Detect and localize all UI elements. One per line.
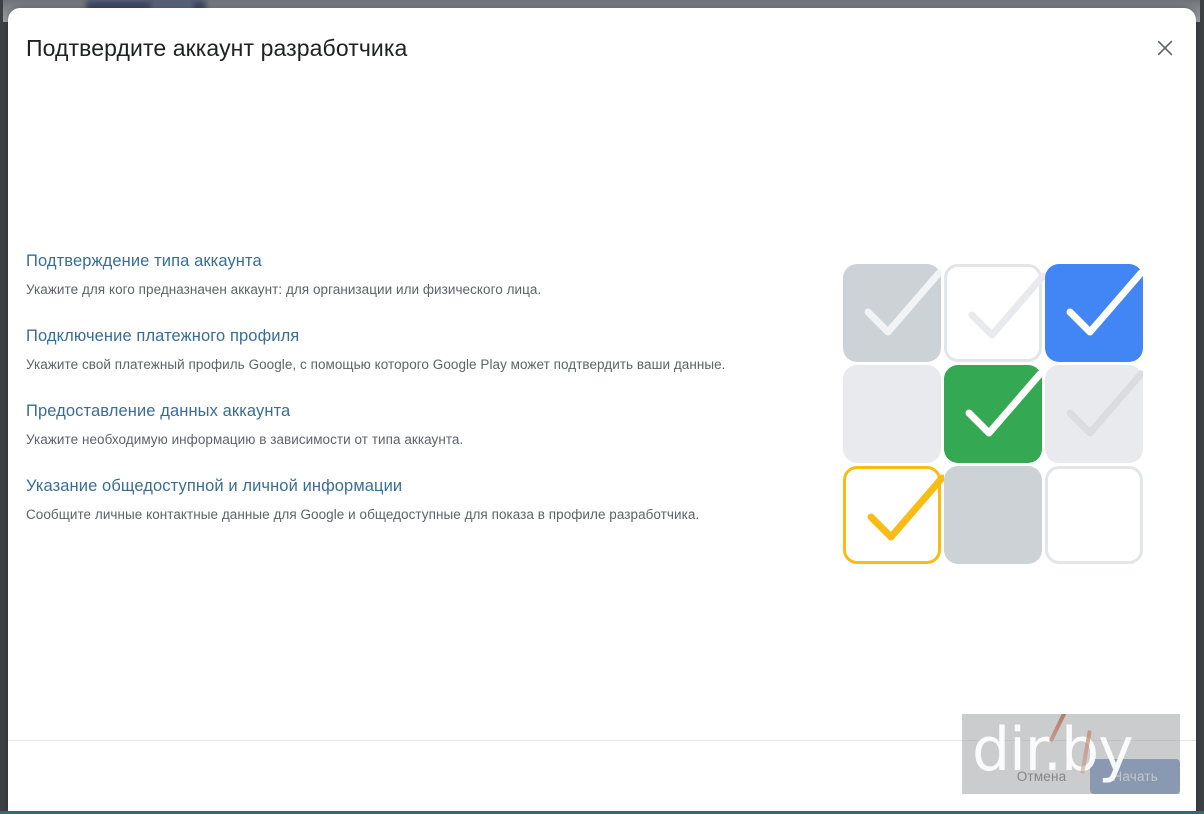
window-right-edge	[1200, 0, 1204, 814]
step-title-account-type[interactable]: Подтверждение типа аккаунта	[26, 250, 816, 272]
step-desc-account-data: Укажите необходимую информацию в зависим…	[26, 431, 816, 449]
check-icon	[843, 264, 941, 362]
step-title-payment-profile[interactable]: Подключение платежного профиля	[26, 325, 816, 347]
checkbox-cell-2	[944, 264, 1042, 362]
footer-actions: Отмена Начать	[1001, 759, 1180, 794]
close-button[interactable]	[1148, 32, 1182, 66]
checkbox-cell-4	[843, 365, 941, 463]
close-icon	[1156, 39, 1174, 60]
check-icon	[944, 365, 1042, 463]
dialog-header: Подтвердите аккаунт разработчика	[8, 8, 1196, 90]
checkbox-grid-illustration	[843, 264, 1151, 572]
checkbox-cell-8	[944, 466, 1042, 564]
step-desc-payment-profile: Укажите свой платежный профиль Google, с…	[26, 356, 816, 374]
check-icon	[1045, 365, 1143, 463]
dialog-footer: Отмена Начать	[8, 740, 1196, 814]
step-title-public-personal-info[interactable]: Указание общедоступной и личной информац…	[26, 475, 816, 497]
step-desc-public-personal-info: Сообщите личные контактные данные для Go…	[26, 506, 816, 524]
step-item-payment-profile: Подключение платежного профиля Укажите с…	[26, 325, 816, 374]
check-icon	[846, 469, 944, 567]
onboarding-steps-list: Подтверждение типа аккаунта Укажите для …	[26, 250, 816, 524]
dialog-body: Подтверждение типа аккаунта Укажите для …	[8, 90, 1196, 740]
step-title-account-data[interactable]: Предоставление данных аккаунта	[26, 400, 816, 422]
verify-developer-account-dialog: Подтвердите аккаунт разработчика Подтвер…	[8, 8, 1196, 814]
checkbox-cell-5	[944, 365, 1042, 463]
window-left-edge	[0, 0, 3, 814]
checkbox-cell-1	[843, 264, 941, 362]
checkbox-cell-9	[1045, 466, 1143, 564]
step-item-public-personal-info: Указание общедоступной и личной информац…	[26, 475, 816, 524]
step-item-account-type: Подтверждение типа аккаунта Укажите для …	[26, 250, 816, 299]
checkbox-cell-7	[843, 466, 941, 564]
cancel-button[interactable]: Отмена	[1001, 760, 1083, 793]
checkbox-cell-6	[1045, 365, 1143, 463]
page-title: Подтвердите аккаунт разработчика	[26, 32, 407, 64]
check-icon	[947, 267, 1045, 365]
step-item-account-data: Предоставление данных аккаунта Укажите н…	[26, 400, 816, 449]
check-icon	[1045, 264, 1143, 362]
step-desc-account-type: Укажите для кого предназначен аккаунт: д…	[26, 281, 816, 299]
checkbox-cell-3	[1045, 264, 1143, 362]
start-button[interactable]: Начать	[1090, 759, 1180, 794]
